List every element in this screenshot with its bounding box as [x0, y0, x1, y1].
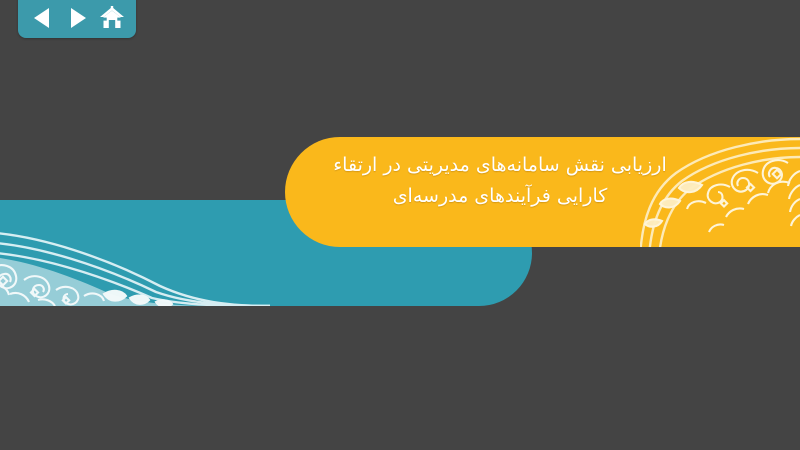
home-icon — [99, 6, 125, 30]
slide-navigation-bar — [18, 0, 136, 38]
triangle-right-icon — [67, 7, 87, 29]
triangle-left-icon — [32, 7, 52, 29]
slide-title-line-2: کارایی فرآیندهای مدرسه‌ای — [300, 181, 700, 212]
next-slide-button[interactable] — [64, 5, 90, 31]
arabesque-ornament-teal — [0, 200, 270, 306]
slide-title-line-1: ارزیابی نقش سامانه‌های مدیریتی در ارتقاء — [300, 150, 700, 181]
slide-title: ارزیابی نقش سامانه‌های مدیریتی در ارتقاء… — [300, 150, 700, 212]
presentation-slide: ارزیابی نقش سامانه‌های مدیریتی در ارتقاء… — [0, 0, 800, 450]
home-button[interactable] — [99, 5, 125, 31]
previous-slide-button[interactable] — [29, 5, 55, 31]
